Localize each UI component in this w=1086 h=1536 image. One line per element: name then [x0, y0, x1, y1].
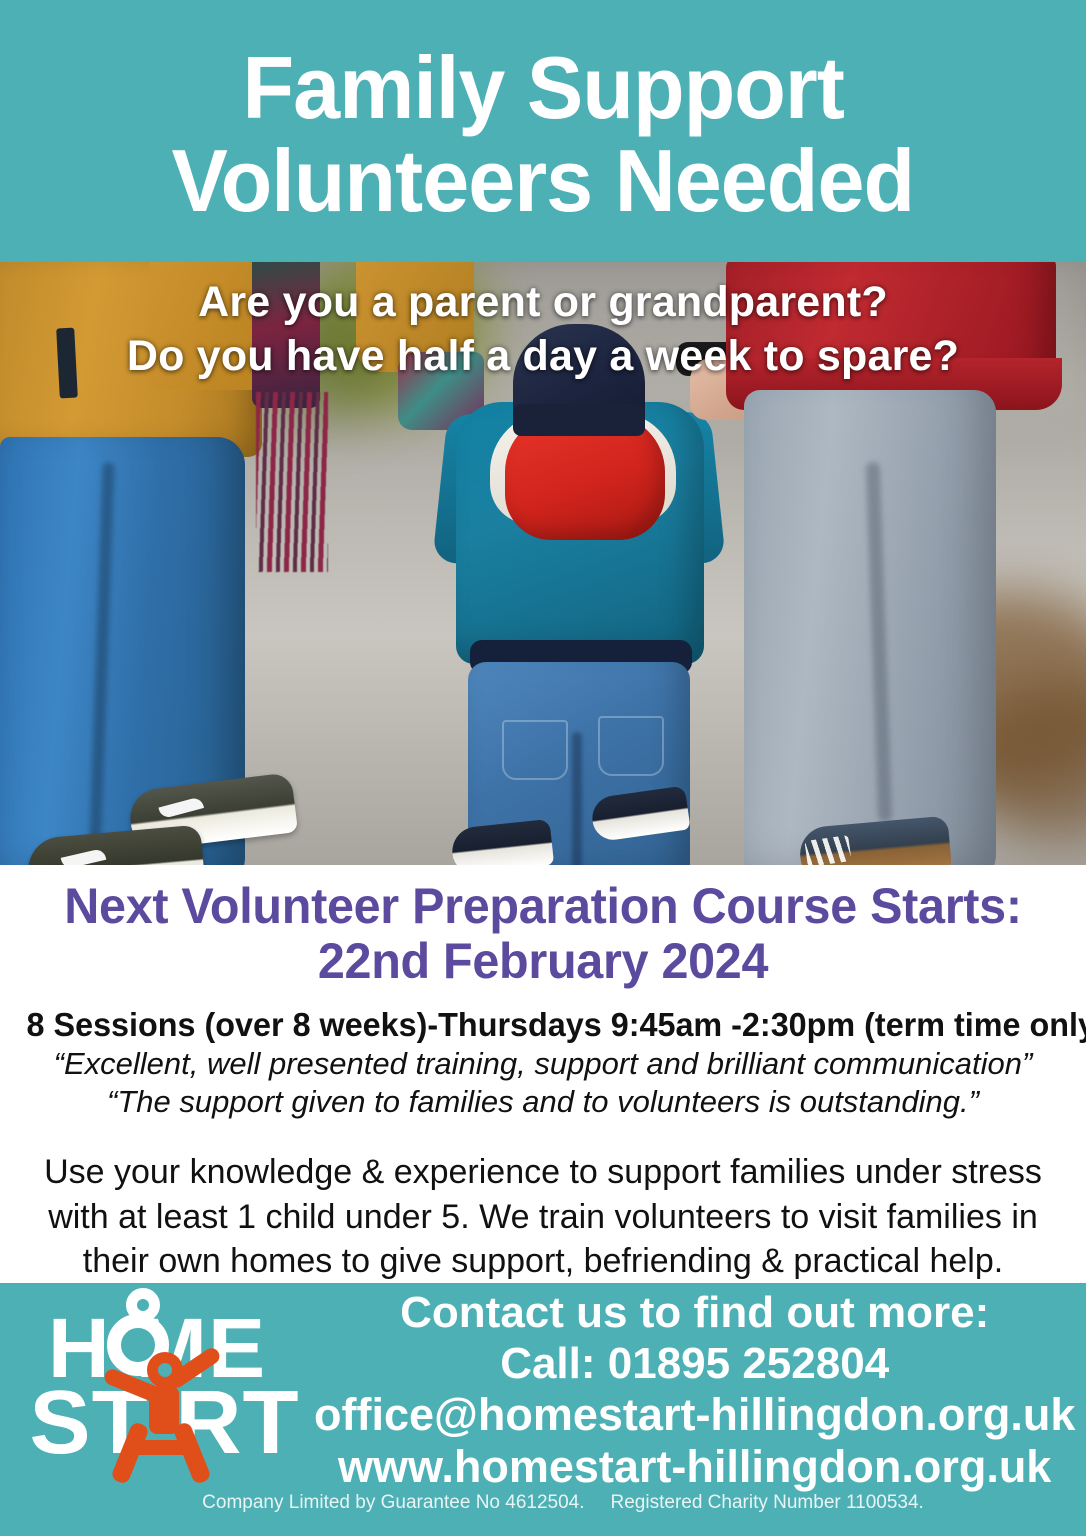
company-number: Company Limited by Guarantee No 4612504.: [202, 1493, 584, 1514]
footer-main-row: H ME ST RT Contact us to find out more: …: [0, 1283, 1086, 1493]
child-leg-seam: [572, 732, 582, 865]
home-start-logo: H ME ST RT: [14, 1292, 314, 1482]
contact-website[interactable]: www.homestart-hillingdon.org.uk: [314, 1441, 1075, 1493]
description-paragraph: Use your knowledge & experience to suppo…: [16, 1150, 1070, 1283]
child-jeans-pocket-right: [598, 716, 664, 776]
contact-email[interactable]: office@homestart-hillingdon.org.uk: [314, 1389, 1075, 1441]
course-heading-line-2: 22nd February 2024: [32, 934, 1054, 989]
shoe-swoosh-icon: [158, 796, 204, 819]
right-adult-jeans: [744, 390, 996, 865]
subtitle-line-2: Do you have half a day a week to spare?: [0, 330, 1086, 384]
child-shoe-front: [450, 819, 554, 865]
subtitle-line-1: Are you a parent or grandparent?: [0, 276, 1086, 330]
scarf-fringe: [256, 392, 328, 572]
footer-banner: H ME ST RT Contact us to find out more: …: [0, 1283, 1086, 1536]
testimonial-quote-1: “Excellent, well presented training, sup…: [16, 1045, 1070, 1083]
header-banner: Family Support Volunteers Needed: [0, 0, 1086, 262]
description-line-1: Use your knowledge & experience to suppo…: [32, 1150, 1054, 1194]
page-title-line-1: Family Support: [242, 41, 843, 134]
shoe-swoosh-icon: [61, 848, 107, 865]
poster: Family Support Volunteers Needed: [0, 0, 1086, 1536]
right-adult-shoe-stripes: [804, 835, 851, 865]
footer-fine-print: Company Limited by Guarantee No 4612504.…: [0, 1493, 1086, 1536]
course-heading-line-1: Next Volunteer Preparation Course Starts…: [32, 879, 1054, 934]
logo-figure-head: [147, 1352, 183, 1388]
contact-heading: Contact us to find out more:: [314, 1287, 1075, 1338]
photo-subtitle: Are you a parent or grandparent? Do you …: [0, 276, 1086, 384]
charity-number: Registered Charity Number 1100534.: [611, 1493, 924, 1514]
description-line-2: with at least 1 child under 5. We train …: [32, 1195, 1054, 1239]
logo-orange-figure-icon: [109, 1344, 221, 1479]
body-content: Next Volunteer Preparation Course Starts…: [0, 865, 1086, 1283]
contact-block: Contact us to find out more: Call: 01895…: [314, 1287, 1081, 1493]
logo-person-head-icon: [126, 1288, 160, 1322]
sessions-detail: 8 Sessions (over 8 weeks)-Thursdays 9:45…: [27, 1005, 1060, 1045]
testimonial-quote-2: “The support given to families and to vo…: [16, 1083, 1070, 1121]
page-title-line-2: Volunteers Needed: [172, 134, 915, 227]
child-beanie-brim: [513, 404, 645, 436]
contact-phone[interactable]: Call: 01895 252804: [314, 1338, 1075, 1389]
child-jeans-pocket-left: [502, 720, 568, 780]
description-line-3: their own homes to give support, befrien…: [32, 1239, 1054, 1283]
hero-photo: Are you a parent or grandparent? Do you …: [0, 262, 1086, 865]
